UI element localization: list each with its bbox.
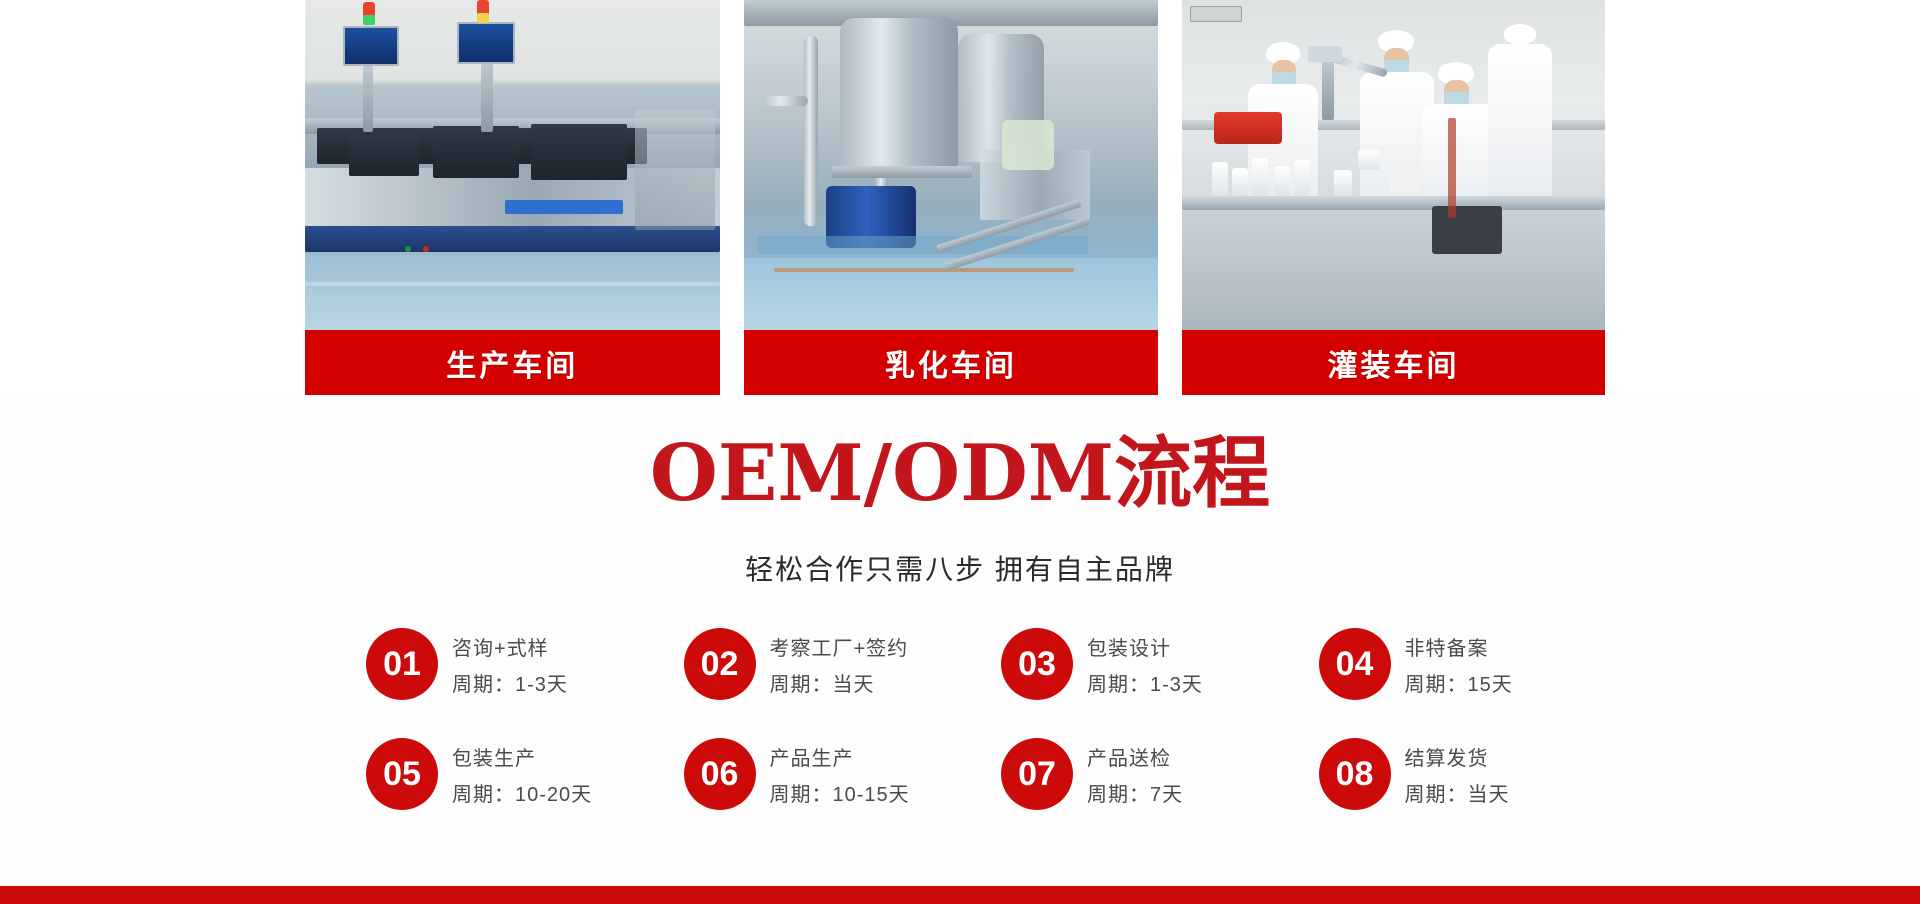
workshop-gallery: 生产车间 xyxy=(305,0,1605,395)
caption-bar-filling: 灌装车间 xyxy=(1182,330,1605,395)
production-workshop-photo xyxy=(305,0,720,330)
step-number-badge: 08 xyxy=(1319,738,1391,810)
step-cycle: 周期：1-3天 xyxy=(452,668,568,697)
step-name: 产品送检 xyxy=(1087,742,1183,771)
page-root: 生产车间 xyxy=(0,0,1920,904)
filling-workshop-photo xyxy=(1182,0,1605,330)
process-title: OEM/ODM流程 xyxy=(0,435,1920,513)
step-number-badge: 03 xyxy=(1001,628,1073,700)
process-subtitle: 轻松合作只需八步 拥有自主品牌 xyxy=(0,548,1920,588)
step-name: 咨询+式样 xyxy=(452,632,568,661)
process-step-07[interactable]: 07 产品送检 周期：7天 xyxy=(1001,738,1319,810)
step-text-block: 咨询+式样 周期：1-3天 xyxy=(452,632,568,697)
step-name: 产品生产 xyxy=(770,742,910,771)
step-number-badge: 06 xyxy=(684,738,756,810)
process-step-02[interactable]: 02 考察工厂+签约 周期：当天 xyxy=(684,628,1002,700)
step-text-block: 非特备案 周期：15天 xyxy=(1405,632,1513,697)
step-text-block: 产品送检 周期：7天 xyxy=(1087,742,1183,807)
process-step-06[interactable]: 06 产品生产 周期：10-15天 xyxy=(684,738,1002,810)
caption-label-filling: 灌装车间 xyxy=(1328,341,1460,385)
step-text-block: 包装设计 周期：1-3天 xyxy=(1087,632,1203,697)
step-cycle: 周期：1-3天 xyxy=(1087,668,1203,697)
caption-bar-production: 生产车间 xyxy=(305,330,720,395)
step-name: 考察工厂+签约 xyxy=(770,632,909,661)
caption-bar-emulsifying: 乳化车间 xyxy=(744,330,1159,395)
step-text-block: 包装生产 周期：10-20天 xyxy=(452,742,592,807)
step-number-badge: 01 xyxy=(366,628,438,700)
gallery-card-emulsifying[interactable]: 乳化车间 xyxy=(744,0,1159,395)
step-name: 包装设计 xyxy=(1087,632,1203,661)
step-cycle: 周期：10-15天 xyxy=(770,778,910,807)
step-number-badge: 04 xyxy=(1319,628,1391,700)
gallery-card-production[interactable]: 生产车间 xyxy=(305,0,720,395)
step-text-block: 产品生产 周期：10-15天 xyxy=(770,742,910,807)
process-step-05[interactable]: 05 包装生产 周期：10-20天 xyxy=(366,738,684,810)
caption-label-production: 生产车间 xyxy=(446,341,578,385)
emulsifying-workshop-photo xyxy=(744,0,1159,330)
step-cycle: 周期：当天 xyxy=(770,668,909,697)
step-name: 非特备案 xyxy=(1405,632,1513,661)
gallery-card-filling[interactable]: 灌装车间 xyxy=(1182,0,1605,395)
step-name: 结算发货 xyxy=(1405,742,1510,771)
process-steps-grid: 01 咨询+式样 周期：1-3天 02 考察工厂+签约 周期：当天 03 包装设… xyxy=(366,628,1636,810)
step-text-block: 结算发货 周期：当天 xyxy=(1405,742,1510,807)
process-step-04[interactable]: 04 非特备案 周期：15天 xyxy=(1319,628,1637,700)
caption-label-emulsifying: 乳化车间 xyxy=(885,341,1017,385)
bottom-accent-bar xyxy=(0,886,1920,904)
step-cycle: 周期：15天 xyxy=(1405,668,1513,697)
step-cycle: 周期：7天 xyxy=(1087,778,1183,807)
step-cycle: 周期：当天 xyxy=(1405,778,1510,807)
step-text-block: 考察工厂+签约 周期：当天 xyxy=(770,632,909,697)
process-step-01[interactable]: 01 咨询+式样 周期：1-3天 xyxy=(366,628,684,700)
process-step-08[interactable]: 08 结算发货 周期：当天 xyxy=(1319,738,1637,810)
step-number-badge: 05 xyxy=(366,738,438,810)
step-name: 包装生产 xyxy=(452,742,592,771)
step-number-badge: 02 xyxy=(684,628,756,700)
process-step-03[interactable]: 03 包装设计 周期：1-3天 xyxy=(1001,628,1319,700)
step-cycle: 周期：10-20天 xyxy=(452,778,592,807)
step-number-badge: 07 xyxy=(1001,738,1073,810)
